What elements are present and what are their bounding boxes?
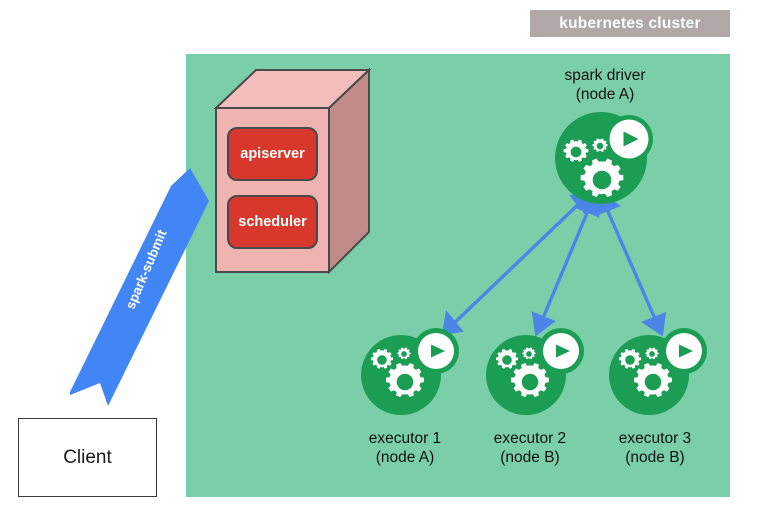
client-box: Client <box>18 418 157 497</box>
executor-3-label: executor 3 (node B) <box>595 429 715 467</box>
spark-driver-title: spark driver <box>535 66 675 85</box>
executor-3-title: executor 3 <box>595 429 715 448</box>
client-label: Client <box>63 447 112 469</box>
spark-submit-label: spark-submit <box>116 211 177 327</box>
spark-driver-label: spark driver (node A) <box>535 66 675 104</box>
scheduler-label: scheduler <box>228 196 317 248</box>
executor-2-label: executor 2 (node B) <box>470 429 590 467</box>
executor-3-subtitle: (node B) <box>595 448 715 467</box>
executor-1-subtitle: (node A) <box>345 448 465 467</box>
executor-2-subtitle: (node B) <box>470 448 590 467</box>
spark-driver-subtitle: (node A) <box>535 85 675 104</box>
diagram-canvas: kubernetes cluster Client <box>0 0 761 516</box>
executor-1-title: executor 1 <box>345 429 465 448</box>
kubernetes-cluster-label: kubernetes cluster <box>530 10 730 37</box>
executor-1-label: executor 1 (node A) <box>345 429 465 467</box>
executor-2-title: executor 2 <box>470 429 590 448</box>
apiserver-label: apiserver <box>228 128 317 180</box>
